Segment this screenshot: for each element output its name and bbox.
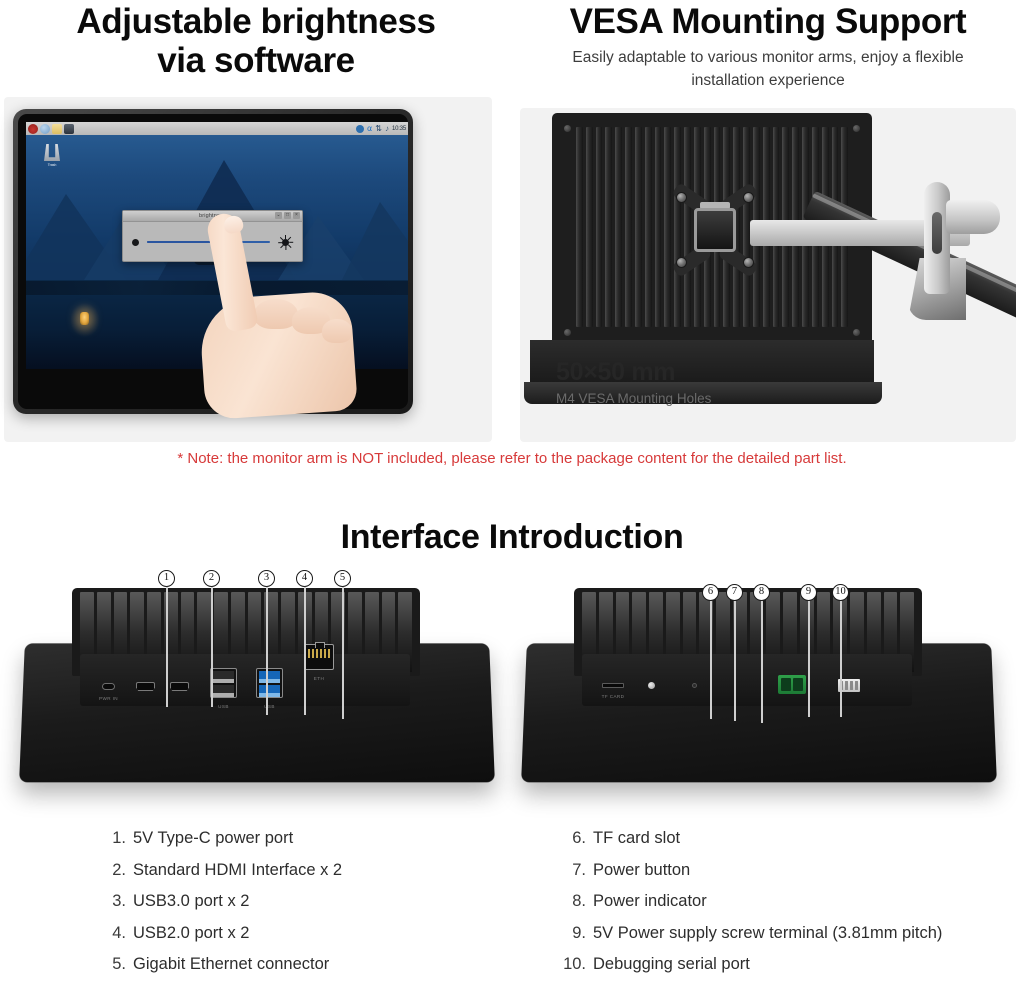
port-usb2-stack: USB — [210, 668, 237, 698]
vesa-photo-panel: 50×50 mm M4 VESA Mounting Holes — [520, 108, 1016, 442]
list-item-number: 1. — [100, 830, 126, 847]
taskbar-clock[interactable]: 10:35 — [392, 126, 406, 132]
port-hdmi-0: HDMI0 — [136, 682, 155, 691]
list-item-number: 4. — [100, 925, 126, 942]
callout-5: 5 — [334, 570, 351, 587]
port-label: USB — [218, 704, 229, 709]
list-item-label: 5V Power supply screw terminal (3.81mm p… — [593, 925, 942, 942]
port-label: HDMI1 — [171, 697, 187, 702]
device-io-face: PWR IN HDMI0 HDMI1 USB USB — [80, 654, 410, 706]
web-browser-icon[interactable] — [40, 124, 50, 134]
list-item-number: 5. — [100, 956, 126, 973]
monitor-arm-cap — [946, 200, 1000, 234]
list-item: 3. USB3.0 port x 2 — [100, 893, 342, 910]
list-item-number: 10. — [560, 956, 586, 973]
list-item: 2. Standard HDMI Interface x 2 — [100, 862, 342, 879]
interface-list-left: 1. 5V Type-C power port 2. Standard HDMI… — [100, 830, 342, 982]
list-item: 10. Debugging serial port — [560, 956, 942, 973]
vesa-title: VESA Mounting Support — [512, 0, 1024, 41]
vesa-photo: 50×50 mm M4 VESA Mounting Holes — [520, 108, 1016, 442]
os-taskbar[interactable]: ⍺ ⇅ ♪ 10:35 — [26, 122, 408, 135]
port-hdmi-1: HDMI1 — [170, 682, 189, 691]
power-button[interactable] — [648, 682, 655, 689]
list-item-label: Debugging serial port — [593, 956, 750, 973]
brightness-photo-panel: ⍺ ⇅ ♪ 10:35 Trash brightn — [4, 97, 492, 442]
list-item-number: 7. — [560, 862, 586, 879]
monitor-arm-pivot — [924, 182, 950, 294]
list-item-label: 5V Type-C power port — [133, 830, 293, 847]
list-item-label: Gigabit Ethernet connector — [133, 956, 329, 973]
knuckle — [322, 319, 352, 343]
vesa-screw — [676, 192, 687, 203]
vesa-spec-overlay: 50×50 mm M4 VESA Mounting Holes — [556, 358, 711, 406]
vesa-screw — [676, 257, 687, 268]
port-label: PWR IN — [99, 696, 118, 701]
plate-screw — [564, 329, 571, 336]
bluetooth-icon[interactable]: ⍺ — [367, 125, 372, 133]
power-indicator-led — [692, 683, 697, 688]
list-item-label: TF card slot — [593, 830, 680, 847]
list-item: 4. USB2.0 port x 2 — [100, 925, 342, 942]
vesa-spec-detail: M4 VESA Mounting Holes — [556, 391, 711, 406]
callout-4: 4 — [296, 570, 313, 587]
interface-introduction-title: Interface Introduction — [0, 518, 1024, 557]
sun-dim-icon — [132, 239, 139, 246]
product-info-page: Adjustable brightness via software VESA … — [0, 0, 1024, 982]
list-item-number: 8. — [560, 893, 586, 910]
callout-2: 2 — [203, 570, 220, 587]
trash-icon — [44, 144, 60, 161]
port-label: TF CARD — [602, 694, 625, 699]
bracket-center-mount — [694, 208, 736, 252]
device-front-ports: PWR IN HDMI0 HDMI1 USB USB — [22, 570, 492, 820]
brightness-title-line2: via software — [0, 41, 512, 80]
cpu-monitor-icon[interactable] — [356, 125, 364, 133]
list-item-label: USB3.0 port x 2 — [133, 893, 249, 910]
volume-icon[interactable]: ♪ — [385, 125, 389, 133]
list-item-label: USB2.0 port x 2 — [133, 925, 249, 942]
list-item: 1. 5V Type-C power port — [100, 830, 342, 847]
list-item-number: 3. — [100, 893, 126, 910]
vesa-bracket — [670, 186, 760, 274]
interface-list-right: 6. TF card slot 7. Power button 8. Power… — [560, 830, 942, 982]
vesa-subtitle: Easily adaptable to various monitor arms… — [512, 41, 1024, 92]
port-tf-card: TF CARD — [602, 683, 624, 688]
list-item: 7. Power button — [560, 862, 942, 879]
interface-device-row: PWR IN HDMI0 HDMI1 USB USB — [0, 570, 1024, 820]
list-item: 9. 5V Power supply screw terminal (3.81m… — [560, 925, 942, 942]
callout-8: 8 — [753, 584, 770, 601]
power-screw-terminal — [778, 675, 806, 694]
package-note: * Note: the monitor arm is NOT included,… — [0, 450, 1024, 467]
vesa-screw — [743, 257, 754, 268]
desktop-icon-label: Trash — [39, 163, 65, 167]
vesa-screw — [743, 192, 754, 203]
port-ethernet: ETH — [304, 644, 334, 670]
callout-6: 6 — [702, 584, 719, 601]
brightness-title-line1: Adjustable brightness — [0, 2, 512, 41]
callout-3: 3 — [258, 570, 275, 587]
list-item-number: 6. — [560, 830, 586, 847]
callout-1: 1 — [158, 570, 175, 587]
network-icon[interactable]: ⇅ — [375, 125, 382, 133]
file-manager-icon[interactable] — [52, 124, 62, 134]
callout-10: 10 — [832, 584, 849, 601]
brightness-title: Adjustable brightness via software — [0, 0, 512, 80]
taskbar-app-launchers — [28, 124, 74, 134]
port-label: HDMI0 — [137, 697, 153, 702]
callout-9: 9 — [800, 584, 817, 601]
port-label: ETH — [314, 676, 324, 681]
raspberry-menu-icon[interactable] — [28, 124, 38, 134]
plate-screw — [853, 329, 860, 336]
callout-7: 7 — [726, 584, 743, 601]
list-item-number: 2. — [100, 862, 126, 879]
terminal-icon[interactable] — [64, 124, 74, 134]
plate-screw — [853, 125, 860, 132]
vesa-spec-size: 50×50 mm — [556, 358, 711, 387]
port-type-c: PWR IN — [102, 683, 115, 690]
list-item-label: Power indicator — [593, 893, 707, 910]
port-usb3-stack: USB — [256, 668, 283, 698]
plate-screw — [564, 125, 571, 132]
interface-lists: 1. 5V Type-C power port 2. Standard HDMI… — [0, 830, 1024, 982]
list-item: 5. Gigabit Ethernet connector — [100, 956, 342, 973]
device-io-face: TF CARD — [582, 654, 912, 706]
hand-touching-screen — [192, 213, 360, 413]
pivot-slot — [932, 212, 942, 254]
list-item-label: Power button — [593, 862, 690, 879]
device-side-ports: TF CARD 6 7 8 — [524, 570, 994, 820]
list-item: 8. Power indicator — [560, 893, 942, 910]
taskbar-system-tray: ⍺ ⇅ ♪ 10:35 — [356, 125, 408, 133]
list-item-label: Standard HDMI Interface x 2 — [133, 862, 342, 879]
list-item-number: 9. — [560, 925, 586, 942]
list-item: 6. TF card slot — [560, 830, 942, 847]
wallpaper-lantern — [80, 312, 89, 325]
desktop-trash-icon[interactable]: Trash — [39, 144, 65, 167]
